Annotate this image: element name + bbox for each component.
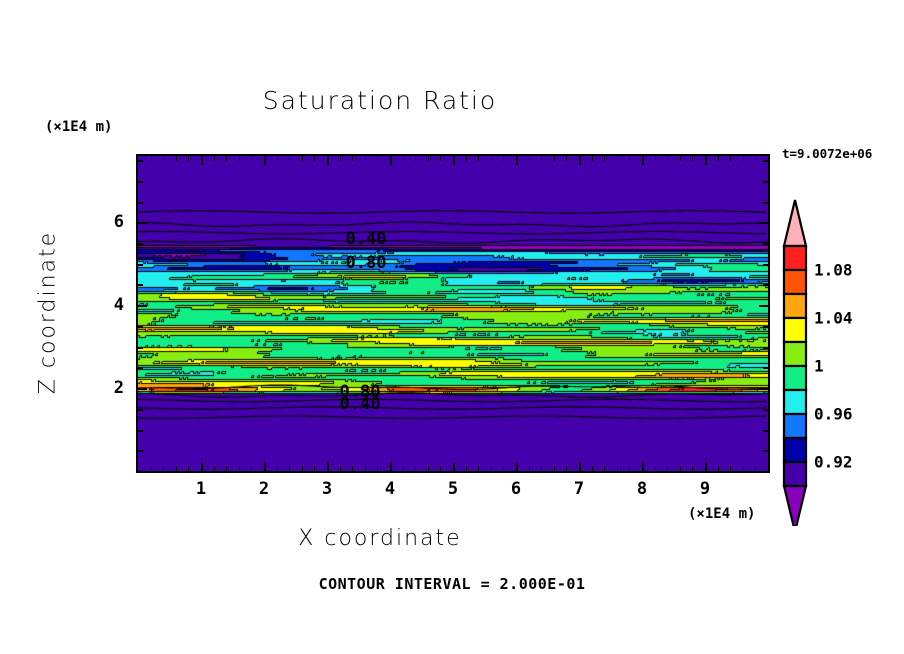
axis-tick [763,181,768,183]
axis-tick [692,466,693,471]
axis-tick [201,462,203,471]
colorbar-tick-label: 1.08 [814,261,853,280]
axis-tick [680,156,681,161]
axis-tick [428,466,429,471]
colorbar-band [784,366,806,390]
axis-tick [314,466,315,471]
axis-tick [759,305,768,307]
axis-tick [365,466,366,471]
axis-tick [629,466,630,471]
axis-tick [138,181,143,183]
axis-tick [138,326,143,328]
axis-tick [503,156,504,161]
axis-tick [592,466,593,471]
x-tick-label: 6 [511,479,521,499]
axis-tick [491,156,492,161]
axis-tick [763,367,768,369]
x-axis-unit-label: (×1E4 m) [688,506,755,522]
x-tick-label: 4 [385,479,395,499]
axis-tick [138,160,143,162]
axis-tick [763,202,768,204]
axis-tick [579,462,581,471]
axis-tick [239,466,240,471]
axis-tick [302,156,303,161]
axis-tick [478,156,479,161]
colorbar-band [784,390,806,414]
axis-tick [201,156,203,165]
axis-tick [718,156,719,161]
x-tick-label: 3 [322,479,332,499]
axis-tick [466,466,467,471]
axis-tick [251,156,252,161]
axis-tick [176,466,177,471]
axis-tick [655,466,656,471]
axis-tick [176,156,177,161]
axis-tick [763,450,768,452]
axis-tick [377,466,378,471]
contour-interval-caption: CONTOUR INTERVAL = 2.000E-01 [0,575,904,593]
axis-tick [763,284,768,286]
colorbar-tick-label: 1 [814,357,824,376]
x-tick-label: 5 [448,479,458,499]
axis-tick [763,264,768,266]
colorbar-band [784,270,806,294]
axis-tick [314,156,315,161]
axis-tick [541,156,542,161]
axis-tick [763,160,768,162]
axis-tick [415,466,416,471]
axis-tick [390,462,392,471]
colorbar-tick-label: 1.04 [814,309,853,328]
axis-tick [239,156,240,161]
axis-tick [138,284,143,286]
colorbar-cap-top [784,200,806,246]
axis-tick [763,409,768,411]
axis-tick [151,156,152,161]
axis-tick [554,466,555,471]
axis-tick [163,466,164,471]
colorbar-band [784,462,806,486]
axis-tick [667,466,668,471]
axis-tick [516,462,518,471]
axis-tick [302,466,303,471]
colorbar-cap-bottom [784,486,806,526]
colorbar-swatches [778,196,818,526]
axis-tick [327,462,329,471]
axis-tick [377,156,378,161]
axis-tick [566,466,567,471]
axis-tick [440,156,441,161]
axis-tick [566,156,567,161]
x-tick-label: 7 [574,479,584,499]
contour-level-label: 0.40 [340,394,381,414]
axis-tick [138,388,147,390]
axis-tick [138,305,147,307]
axis-tick [680,466,681,471]
axis-tick [579,156,581,165]
axis-tick [763,347,768,349]
y-tick-label: 4 [106,295,124,315]
axis-tick [138,430,143,432]
axis-tick [428,156,429,161]
x-tick-label: 2 [259,479,269,499]
axis-tick [718,466,719,471]
axis-tick [592,156,593,161]
contour-level-label: 0.80 [346,253,387,273]
axis-tick [503,466,504,471]
axis-tick [516,156,518,165]
axis-tick [730,466,731,471]
axis-tick [617,156,618,161]
axis-tick [705,462,707,471]
colorbar: 1.081.0410.960.92 [778,196,818,526]
y-tick-label: 6 [106,212,124,232]
axis-tick [763,243,768,245]
axis-tick [466,156,467,161]
axis-tick [604,466,605,471]
axis-tick [440,466,441,471]
axis-tick [655,156,656,161]
axis-tick [352,156,353,161]
axis-tick [151,466,152,471]
axis-tick [264,462,266,471]
y-axis-title: Z coordinate [36,203,61,423]
colorbar-band [784,246,806,270]
axis-tick [138,409,143,411]
y-axis-unit-label: (×1E4 m) [45,119,112,135]
y-tick-label: 2 [106,378,124,398]
axis-tick [604,156,605,161]
x-tick-label: 9 [700,479,710,499]
axis-tick [453,156,455,165]
axis-tick [340,466,341,471]
x-tick-label: 1 [196,479,206,499]
contour-plot-area: 0.400.800.800.40 [136,154,770,473]
axis-tick [629,156,630,161]
axis-tick [403,156,404,161]
axis-tick [743,466,744,471]
axis-tick [138,450,143,452]
axis-tick [226,156,227,161]
axis-tick [163,156,164,161]
axis-tick [188,466,189,471]
colorbar-tick-label: 0.92 [814,453,853,472]
axis-tick [138,347,143,349]
axis-tick [390,156,392,165]
axis-tick [214,156,215,161]
axis-tick [188,156,189,161]
axis-tick [642,462,644,471]
axis-tick [138,222,147,224]
axis-tick [415,156,416,161]
axis-tick [541,466,542,471]
axis-tick [403,466,404,471]
axis-tick [529,156,530,161]
axis-tick [138,367,143,369]
axis-tick [340,156,341,161]
axis-tick [289,466,290,471]
axis-tick [617,466,618,471]
axis-tick [763,430,768,432]
axis-tick [264,156,266,165]
x-tick-label: 8 [637,479,647,499]
axis-tick [327,156,329,165]
axis-tick [138,264,143,266]
axis-tick [251,466,252,471]
x-axis-title: X coordinate [0,526,760,551]
colorbar-band [784,342,806,366]
axis-tick [226,466,227,471]
axis-tick [759,388,768,390]
axis-tick [705,156,707,165]
axis-tick [759,222,768,224]
axis-tick [365,156,366,161]
axis-tick [554,156,555,161]
axis-tick [277,156,278,161]
colorbar-band [784,438,806,462]
axis-tick [289,156,290,161]
time-stamp: t=9.0072e+06 [782,146,872,161]
axis-tick [667,156,668,161]
axis-tick [214,466,215,471]
colorbar-band [784,414,806,438]
colorbar-band [784,318,806,342]
axis-tick [730,156,731,161]
axis-tick [755,156,756,161]
axis-tick [763,326,768,328]
contour-level-label: 0.40 [346,229,387,249]
axis-tick [478,466,479,471]
axis-tick [352,466,353,471]
axis-tick [529,466,530,471]
axis-tick [491,466,492,471]
axis-tick [453,462,455,471]
axis-tick [138,202,143,204]
axis-tick [642,156,644,165]
page-title: Saturation Ratio [0,86,760,115]
colorbar-tick-label: 0.96 [814,405,853,424]
contour-field-canvas [138,156,768,471]
axis-tick [277,466,278,471]
axis-tick [138,243,143,245]
colorbar-band [784,294,806,318]
axis-tick [743,156,744,161]
axis-tick [692,156,693,161]
axis-tick [755,466,756,471]
